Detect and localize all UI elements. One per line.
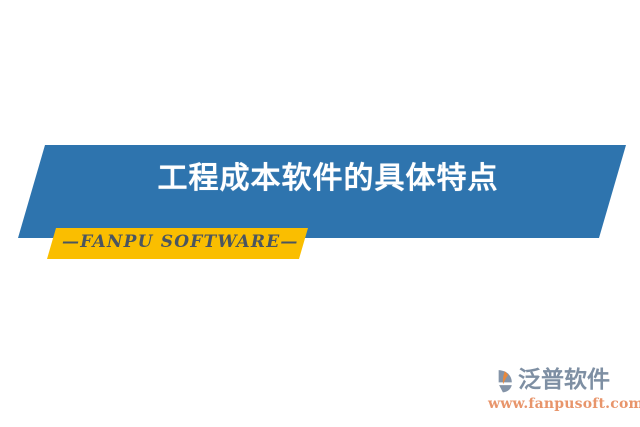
banner-title: 工程成本软件的具体特点 bbox=[128, 159, 528, 199]
logo-url: www.fanpusoft.com bbox=[488, 395, 640, 413]
company-logo: 泛普软件 www.fanpusoft.com bbox=[486, 363, 632, 419]
banner-subtitle: —FANPU SOFTWARE— bbox=[62, 231, 294, 253]
logo-wordmark: 泛普软件 bbox=[518, 367, 610, 393]
logo-row: 泛普软件 bbox=[486, 363, 610, 397]
fanpu-crescent-icon bbox=[486, 365, 516, 395]
slide-canvas: 工程成本软件的具体特点 —FANPU SOFTWARE— 泛普软件 www.fa… bbox=[0, 0, 640, 427]
